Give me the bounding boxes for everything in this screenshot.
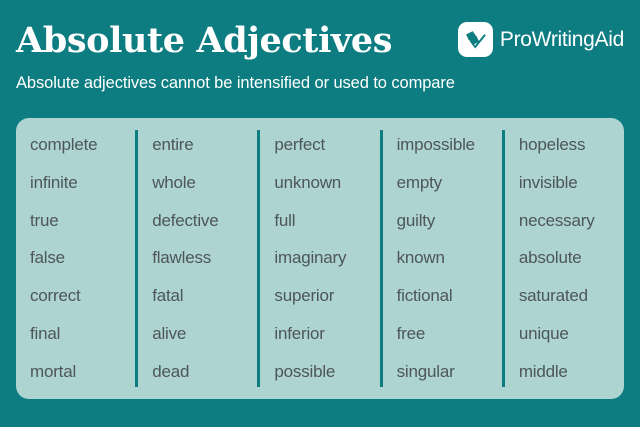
word-item: impossible xyxy=(397,135,498,155)
infographic-root: Absolute Adjectives Absolute adjectives … xyxy=(0,0,640,427)
word-item: inferior xyxy=(274,324,375,344)
word-item: known xyxy=(397,248,498,268)
word-card: complete infinite true false correct fin… xyxy=(16,118,624,399)
word-item: flawless xyxy=(152,248,253,268)
header: Absolute Adjectives Absolute adjectives … xyxy=(16,14,624,104)
word-column-2: entire whole defective flawless fatal al… xyxy=(135,130,257,387)
word-item: necessary xyxy=(519,211,620,231)
word-item: fatal xyxy=(152,286,253,306)
word-item: guilty xyxy=(397,211,498,231)
word-item: true xyxy=(30,211,131,231)
page-subtitle: Absolute adjectives cannot be intensifie… xyxy=(16,72,455,94)
word-item: alive xyxy=(152,324,253,344)
word-item: empty xyxy=(397,173,498,193)
word-item: full xyxy=(274,211,375,231)
word-item: entire xyxy=(152,135,253,155)
word-item: free xyxy=(397,324,498,344)
word-item: saturated xyxy=(519,286,620,306)
word-item: unknown xyxy=(274,173,375,193)
word-item: fictional xyxy=(397,286,498,306)
word-column-4: impossible empty guilty known fictional … xyxy=(380,130,502,387)
word-item: final xyxy=(30,324,131,344)
word-item: mortal xyxy=(30,362,131,382)
word-item: defective xyxy=(152,211,253,231)
word-item: dead xyxy=(152,362,253,382)
word-item: false xyxy=(30,248,131,268)
word-item: middle xyxy=(519,362,620,382)
word-item: superior xyxy=(274,286,375,306)
word-item: infinite xyxy=(30,173,131,193)
word-item: correct xyxy=(30,286,131,306)
word-column-3: perfect unknown full imaginary superior … xyxy=(257,130,379,387)
brand-name: ProWritingAid xyxy=(500,28,624,52)
word-item: whole xyxy=(152,173,253,193)
word-item: invisible xyxy=(519,173,620,193)
brand-logo: ProWritingAid xyxy=(458,22,624,57)
word-item: hopeless xyxy=(519,135,620,155)
word-column-5: hopeless invisible necessary absolute sa… xyxy=(502,130,624,387)
word-item: perfect xyxy=(274,135,375,155)
word-item: possible xyxy=(274,362,375,382)
page-title: Absolute Adjectives xyxy=(16,20,392,62)
word-item: unique xyxy=(519,324,620,344)
book-check-icon xyxy=(458,22,493,57)
word-item: imaginary xyxy=(274,248,375,268)
word-column-1: complete infinite true false correct fin… xyxy=(16,130,135,387)
word-item: singular xyxy=(397,362,498,382)
word-item: absolute xyxy=(519,248,620,268)
word-item: complete xyxy=(30,135,131,155)
